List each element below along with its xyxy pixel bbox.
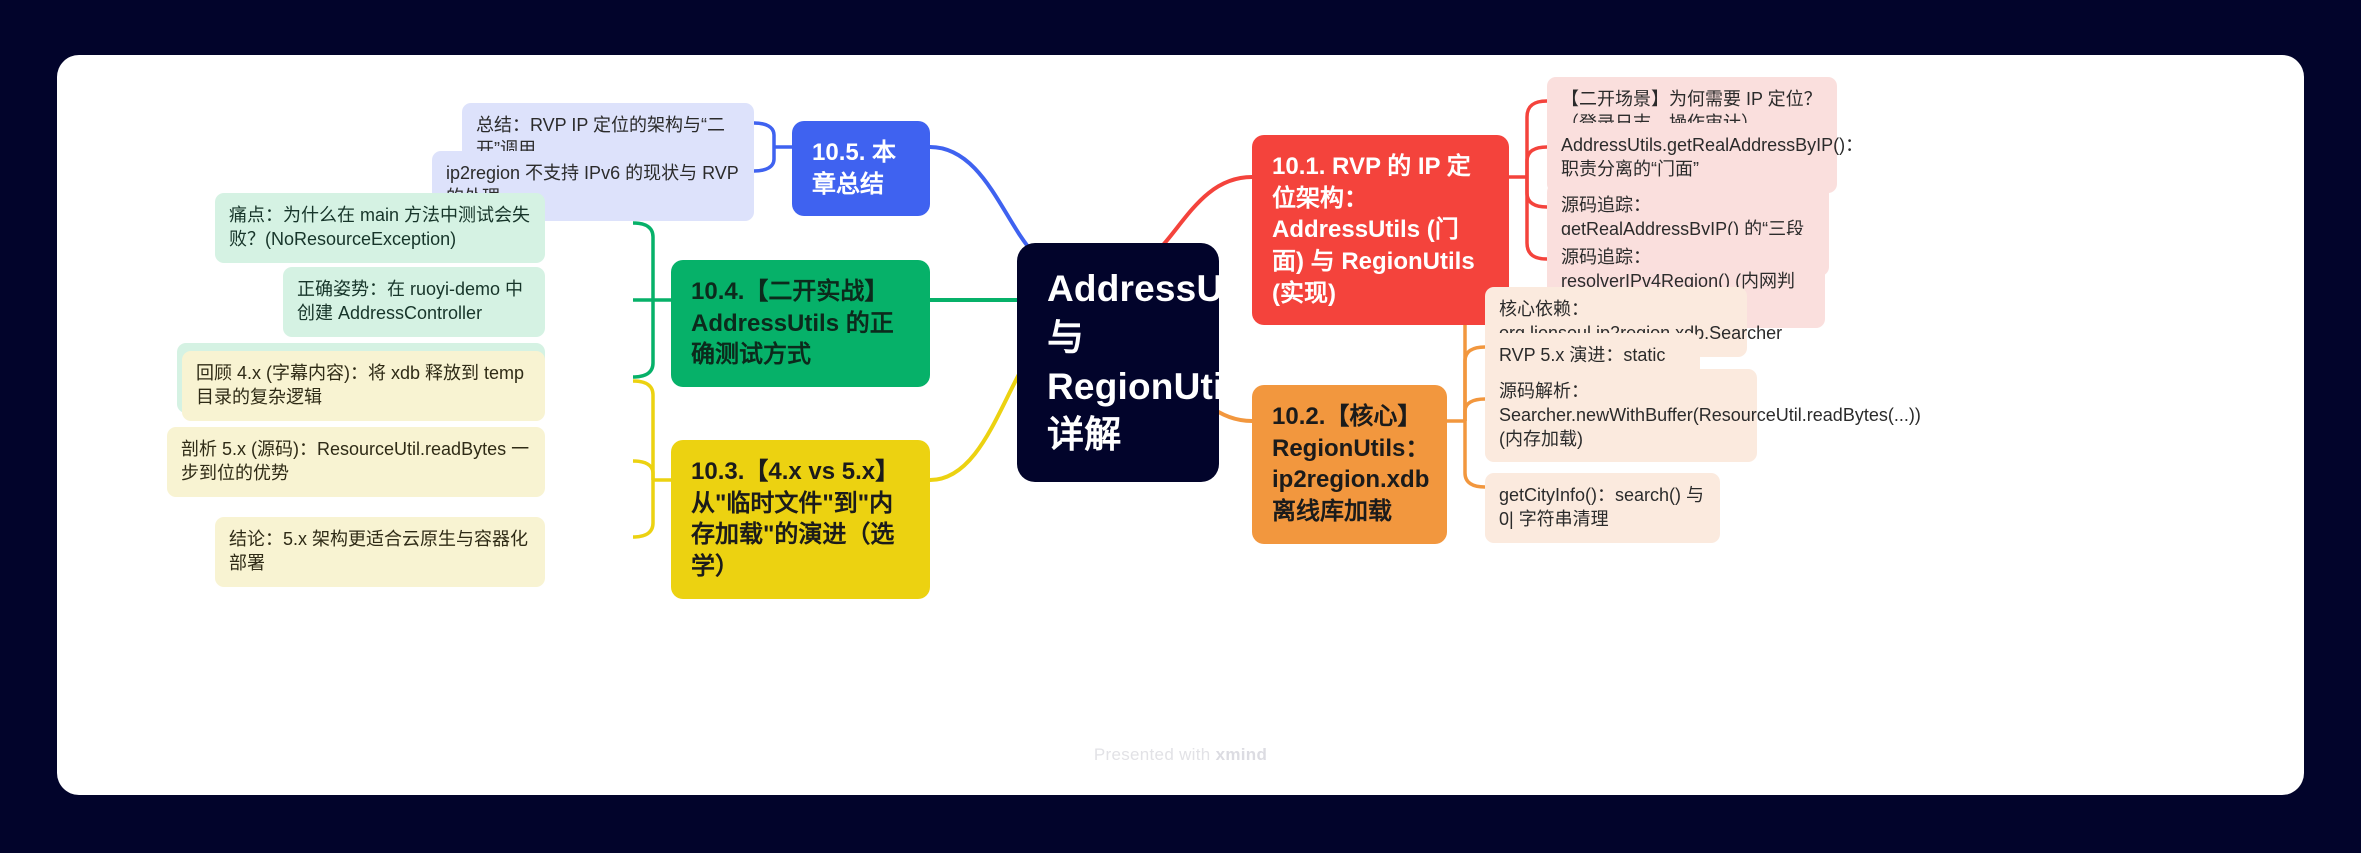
leaf-node-10-2-4[interactable]: getCityInfo()：search() 与 0| 字符串清理	[1485, 473, 1720, 543]
edge-b1-c4	[1527, 177, 1547, 259]
leaf-node-10-4-2-label: 正确姿势：在 ruoyi-demo 中创建 AddressController	[297, 278, 531, 326]
leaf-node-10-2-4-label: getCityInfo()：search() 与 0| 字符串清理	[1499, 484, 1706, 532]
watermark-prefix: Presented with	[1094, 745, 1216, 764]
branch-node-10-5[interactable]: 10.5. 本章总结	[792, 121, 930, 216]
edge-b2-c4	[1465, 421, 1485, 487]
edge-b1-c1	[1527, 101, 1547, 177]
edge-b2-c3	[1465, 399, 1485, 421]
leaf-node-10-3-1-label: 回顾 4.x (字幕内容)：将 xdb 释放到 temp 目录的复杂逻辑	[196, 362, 531, 410]
leaf-node-10-1-2-label: AddressUtils.getRealAddressByIP()：职责分离的“…	[1561, 134, 1863, 182]
leaf-node-10-4-2[interactable]: 正确姿势：在 ruoyi-demo 中创建 AddressController	[283, 267, 545, 337]
leaf-node-10-4-1-label: 痛点：为什么在 main 方法中测试会失败？(NoResourceExcepti…	[229, 204, 531, 252]
leaf-node-10-3-1[interactable]: 回顾 4.x (字幕内容)：将 xdb 释放到 temp 目录的复杂逻辑	[182, 351, 545, 421]
branch-node-10-2-label: 10.2.【核心】RegionUtils：ip2region.xdb 离线库加载	[1272, 401, 1429, 528]
central-topic-label: AddressUtils 与 RegionUtils 详解	[1047, 265, 1278, 460]
mindmap-canvas[interactable]: AddressUtils 与 RegionUtils 详解 10.1. RVP …	[57, 55, 2304, 795]
edge-b5-c1	[754, 123, 774, 147]
branch-node-10-4-label: 10.4.【二开实战】AddressUtils 的正确测试方式	[691, 276, 910, 371]
edge-b5-c2	[754, 147, 774, 171]
leaf-node-10-3-2-label: 剖析 5.x (源码)：ResourceUtil.readBytes 一步到位的…	[181, 438, 531, 486]
leaf-node-10-3-3-label: 结论：5.x 架构更适合云原生与容器化部署	[229, 528, 531, 576]
branch-node-10-1-label: 10.1. RVP 的 IP 定位架构：AddressUtils (门面) 与 …	[1272, 151, 1489, 309]
branch-node-10-4[interactable]: 10.4.【二开实战】AddressUtils 的正确测试方式	[671, 260, 930, 387]
leaf-node-10-3-2[interactable]: 剖析 5.x (源码)：ResourceUtil.readBytes 一步到位的…	[167, 427, 545, 497]
mindmap-screen: AddressUtils 与 RegionUtils 详解 10.1. RVP …	[0, 0, 2361, 853]
leaf-node-10-3-3[interactable]: 结论：5.x 架构更适合云原生与容器化部署	[215, 517, 545, 587]
edge-b3-c1	[633, 381, 653, 480]
edge-b3-c3	[633, 480, 653, 537]
leaf-node-10-2-3-label: 源码解析：Searcher.newWithBuffer(ResourceUtil…	[1499, 380, 1921, 451]
branch-node-10-2[interactable]: 10.2.【核心】RegionUtils：ip2region.xdb 离线库加载	[1252, 385, 1447, 544]
edge-b4-c1	[633, 223, 653, 300]
edge-b2-c2	[1465, 347, 1485, 421]
branch-node-10-3[interactable]: 10.3.【4.x vs 5.x】从"临时文件"到"内存加载"的演进（选学）	[671, 440, 930, 599]
edge-b1-c3	[1527, 177, 1547, 207]
leaf-node-10-2-3[interactable]: 源码解析：Searcher.newWithBuffer(ResourceUtil…	[1485, 369, 1757, 462]
branch-node-10-1[interactable]: 10.1. RVP 的 IP 定位架构：AddressUtils (门面) 与 …	[1252, 135, 1509, 325]
branch-node-10-3-label: 10.3.【4.x vs 5.x】从"临时文件"到"内存加载"的演进（选学）	[691, 456, 910, 583]
watermark-brand: xmind	[1216, 745, 1268, 764]
edge-b3-c2	[633, 461, 653, 480]
xmind-watermark: Presented with xmind	[57, 745, 2304, 765]
edge-b4-c3	[633, 300, 653, 377]
central-topic[interactable]: AddressUtils 与 RegionUtils 详解	[1017, 243, 1219, 482]
leaf-node-10-4-1[interactable]: 痛点：为什么在 main 方法中测试会失败？(NoResourceExcepti…	[215, 193, 545, 263]
edge-b1-c2	[1527, 147, 1547, 177]
branch-node-10-5-label: 10.5. 本章总结	[812, 137, 910, 200]
